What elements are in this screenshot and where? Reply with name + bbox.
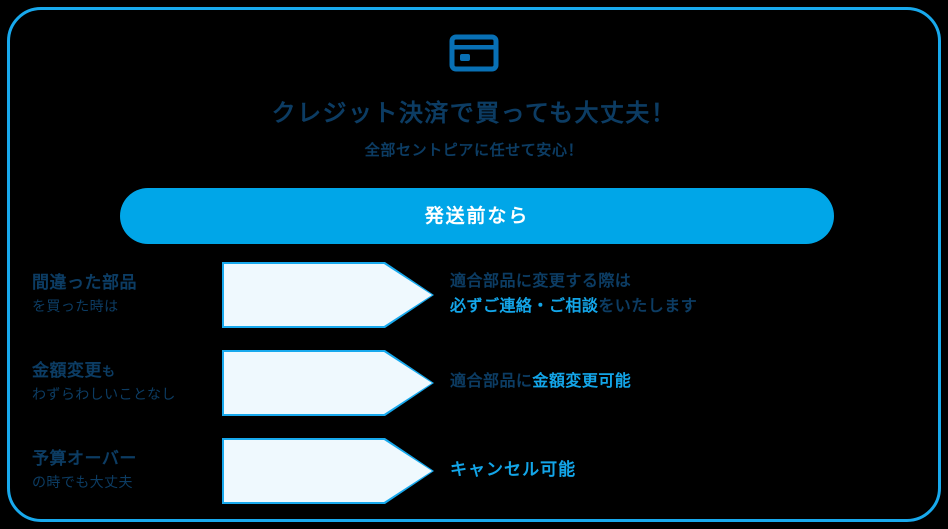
benefit-row: 予算オーバー の時でも大丈夫 キャンセル可能 [10, 438, 938, 504]
arrow-label-text: 予算オーバー の時でも大丈夫 [32, 447, 137, 494]
benefit-description: 適合部品に金額変更可能 [450, 368, 631, 393]
benefit-description: 適合部品に変更する際は 必ずご連絡・ご相談をいたします [450, 268, 697, 318]
arrow-label-line1-main: 予算オーバー [32, 449, 137, 469]
arrow-label-shape [222, 262, 434, 328]
desc-segment: 適合部品に [450, 371, 532, 390]
benefit-row: 金額変更も わずらわしいことなし 適合部品に金額変更可能 [10, 350, 938, 416]
sub-heading: 全部セントピアに任せて安心！ [10, 140, 938, 160]
arrow-label-shape [222, 350, 434, 416]
arrow-label-text: 金額変更も わずらわしいことなし [32, 359, 176, 406]
section-banner-label: 発送前なら [425, 205, 530, 227]
desc-segment: をいたします [598, 296, 697, 315]
main-heading: クレジット決済で買っても大丈夫！ [10, 99, 938, 127]
arrow-label-line1-main: 間違った部品 [32, 273, 137, 293]
benefit-description: キャンセル可能 [450, 458, 576, 483]
credit-card-icon [449, 34, 499, 72]
desc-segment-highlight: キャンセル可能 [450, 460, 576, 480]
arrow-label-fill [224, 264, 432, 326]
arrow-label-line1: 予算オーバー [32, 447, 137, 473]
arrow-label-text: 間違った部品 を買った時は [32, 271, 137, 318]
benefit-description-line: キャンセル可能 [450, 458, 576, 483]
section-banner: 発送前なら [120, 188, 834, 244]
arrow-label-line2: の時でも大丈夫 [32, 473, 137, 494]
arrow-label-line2: を買った時は [32, 297, 137, 318]
desc-segment-highlight: 金額変更可能 [532, 371, 631, 390]
arrow-label-shape [222, 438, 434, 504]
arrow-label-line2: わずらわしいことなし [32, 385, 176, 406]
arrow-label-line1: 金額変更も [32, 359, 176, 385]
desc-segment: 適合部品に変更する際は [450, 271, 631, 290]
benefit-row: 間違った部品 を買った時は 適合部品に変更する際は 必ずご連絡・ご相談をいたしま… [10, 262, 938, 328]
arrow-label-line1-main: 金額変更 [32, 361, 102, 381]
arrow-label-line1-suffix: も [102, 365, 116, 380]
arrow-label-fill [224, 352, 432, 414]
promo-card: クレジット決済で買っても大丈夫！ 全部セントピアに任せて安心！ 発送前なら 間違… [7, 7, 941, 522]
arrow-label-fill [224, 440, 432, 502]
arrow-label-line1: 間違った部品 [32, 271, 137, 297]
benefit-description-line: 必ずご連絡・ご相談をいたします [450, 293, 697, 318]
benefit-description-line: 適合部品に金額変更可能 [450, 368, 631, 393]
benefit-description-line: 適合部品に変更する際は [450, 268, 697, 293]
credit-card-icon-wrap [10, 34, 938, 72]
desc-segment-highlight: 必ずご連絡・ご相談 [450, 296, 598, 315]
